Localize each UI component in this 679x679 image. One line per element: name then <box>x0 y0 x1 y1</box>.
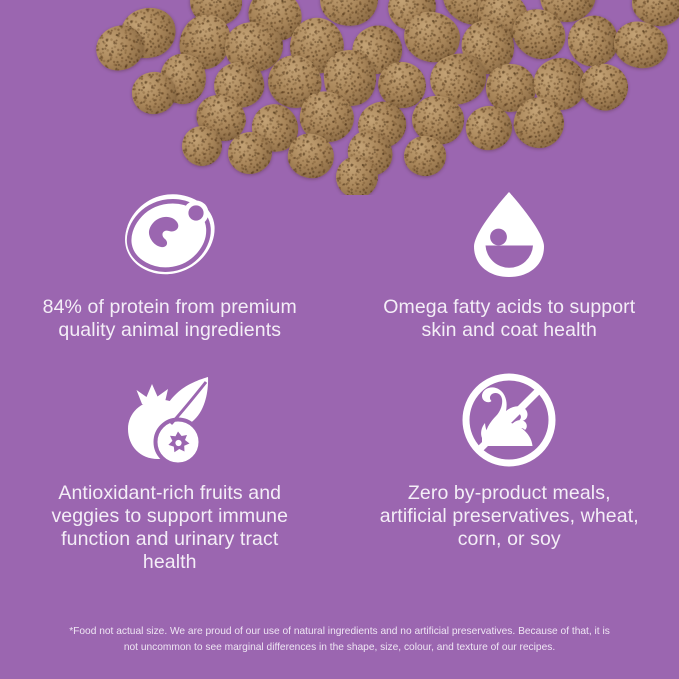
benefit-label-omega: Omega fatty acids to support skin and co… <box>379 296 639 342</box>
kibble-piece <box>223 20 285 75</box>
kibble-piece <box>461 101 516 155</box>
kibble-piece <box>341 124 398 182</box>
kibble-piece <box>381 0 443 37</box>
benefit-label-protein: 84% of protein from premium quality anim… <box>40 296 300 342</box>
kibble-piece <box>524 48 596 120</box>
kibble-piece <box>484 62 539 115</box>
kibble-piece <box>283 129 339 184</box>
kibble-piece <box>129 68 180 117</box>
footnote-disclaimer: *Food not actual size. We are proud of o… <box>0 624 679 656</box>
kibble-piece <box>457 15 519 79</box>
kibble-piece <box>114 1 183 66</box>
kibble-piece <box>321 47 379 108</box>
kibble-piece <box>504 1 573 67</box>
kibble-piece <box>401 8 463 65</box>
kibble-piece <box>409 93 467 148</box>
kibble-piece <box>343 17 410 84</box>
kibble-piece <box>295 87 358 147</box>
kibble-piece <box>561 9 625 73</box>
water-droplet-icon <box>463 186 555 282</box>
kibble-piece <box>401 133 449 180</box>
kibble-piece <box>155 49 212 109</box>
kibble-piece <box>283 11 352 81</box>
kibble-piece <box>209 56 270 114</box>
benefit-label-no-byproducts: Zero by-product meals, artificial preser… <box>379 482 639 551</box>
kibble-piece <box>422 45 493 113</box>
kibble-piece <box>239 0 310 50</box>
meat-cut-icon <box>120 186 220 282</box>
kibble-piece <box>371 55 433 116</box>
kibble-piece <box>472 0 533 46</box>
kibble-piece <box>507 91 571 155</box>
kibble-piece <box>610 18 671 73</box>
benefit-item-no-byproducts: Zero by-product meals, artificial preser… <box>340 372 679 574</box>
benefit-label-antioxidant: Antioxidant-rich fruits and veggies to s… <box>40 482 300 574</box>
kibble-piece <box>574 58 634 117</box>
benefit-item-protein: 84% of protein from premium quality anim… <box>0 186 340 342</box>
kibble-piece <box>246 98 305 158</box>
kibble-piece <box>180 124 224 168</box>
kibble-piece <box>317 0 382 30</box>
product-benefits-panel: 84% of protein from premium quality anim… <box>0 0 679 679</box>
berries-fruit-icon <box>122 372 218 468</box>
kibble-piece <box>189 87 253 148</box>
benefits-grid: 84% of protein from premium quality anim… <box>0 186 679 574</box>
kibble-piece <box>169 5 242 79</box>
benefit-item-omega: Omega fatty acids to support skin and co… <box>340 186 679 342</box>
no-by-product-icon <box>460 372 558 468</box>
benefit-item-antioxidant: Antioxidant-rich fruits and veggies to s… <box>0 372 340 574</box>
kibble-piece <box>630 0 679 28</box>
kibble-scatter <box>0 0 679 195</box>
kibble-piece <box>535 0 602 28</box>
kibble-piece <box>350 93 414 156</box>
kibble-piece <box>259 46 332 118</box>
kibble-piece <box>186 0 247 31</box>
kibble-piece <box>89 18 151 79</box>
kibble-piece <box>225 129 274 177</box>
kibble-piece <box>435 0 508 33</box>
